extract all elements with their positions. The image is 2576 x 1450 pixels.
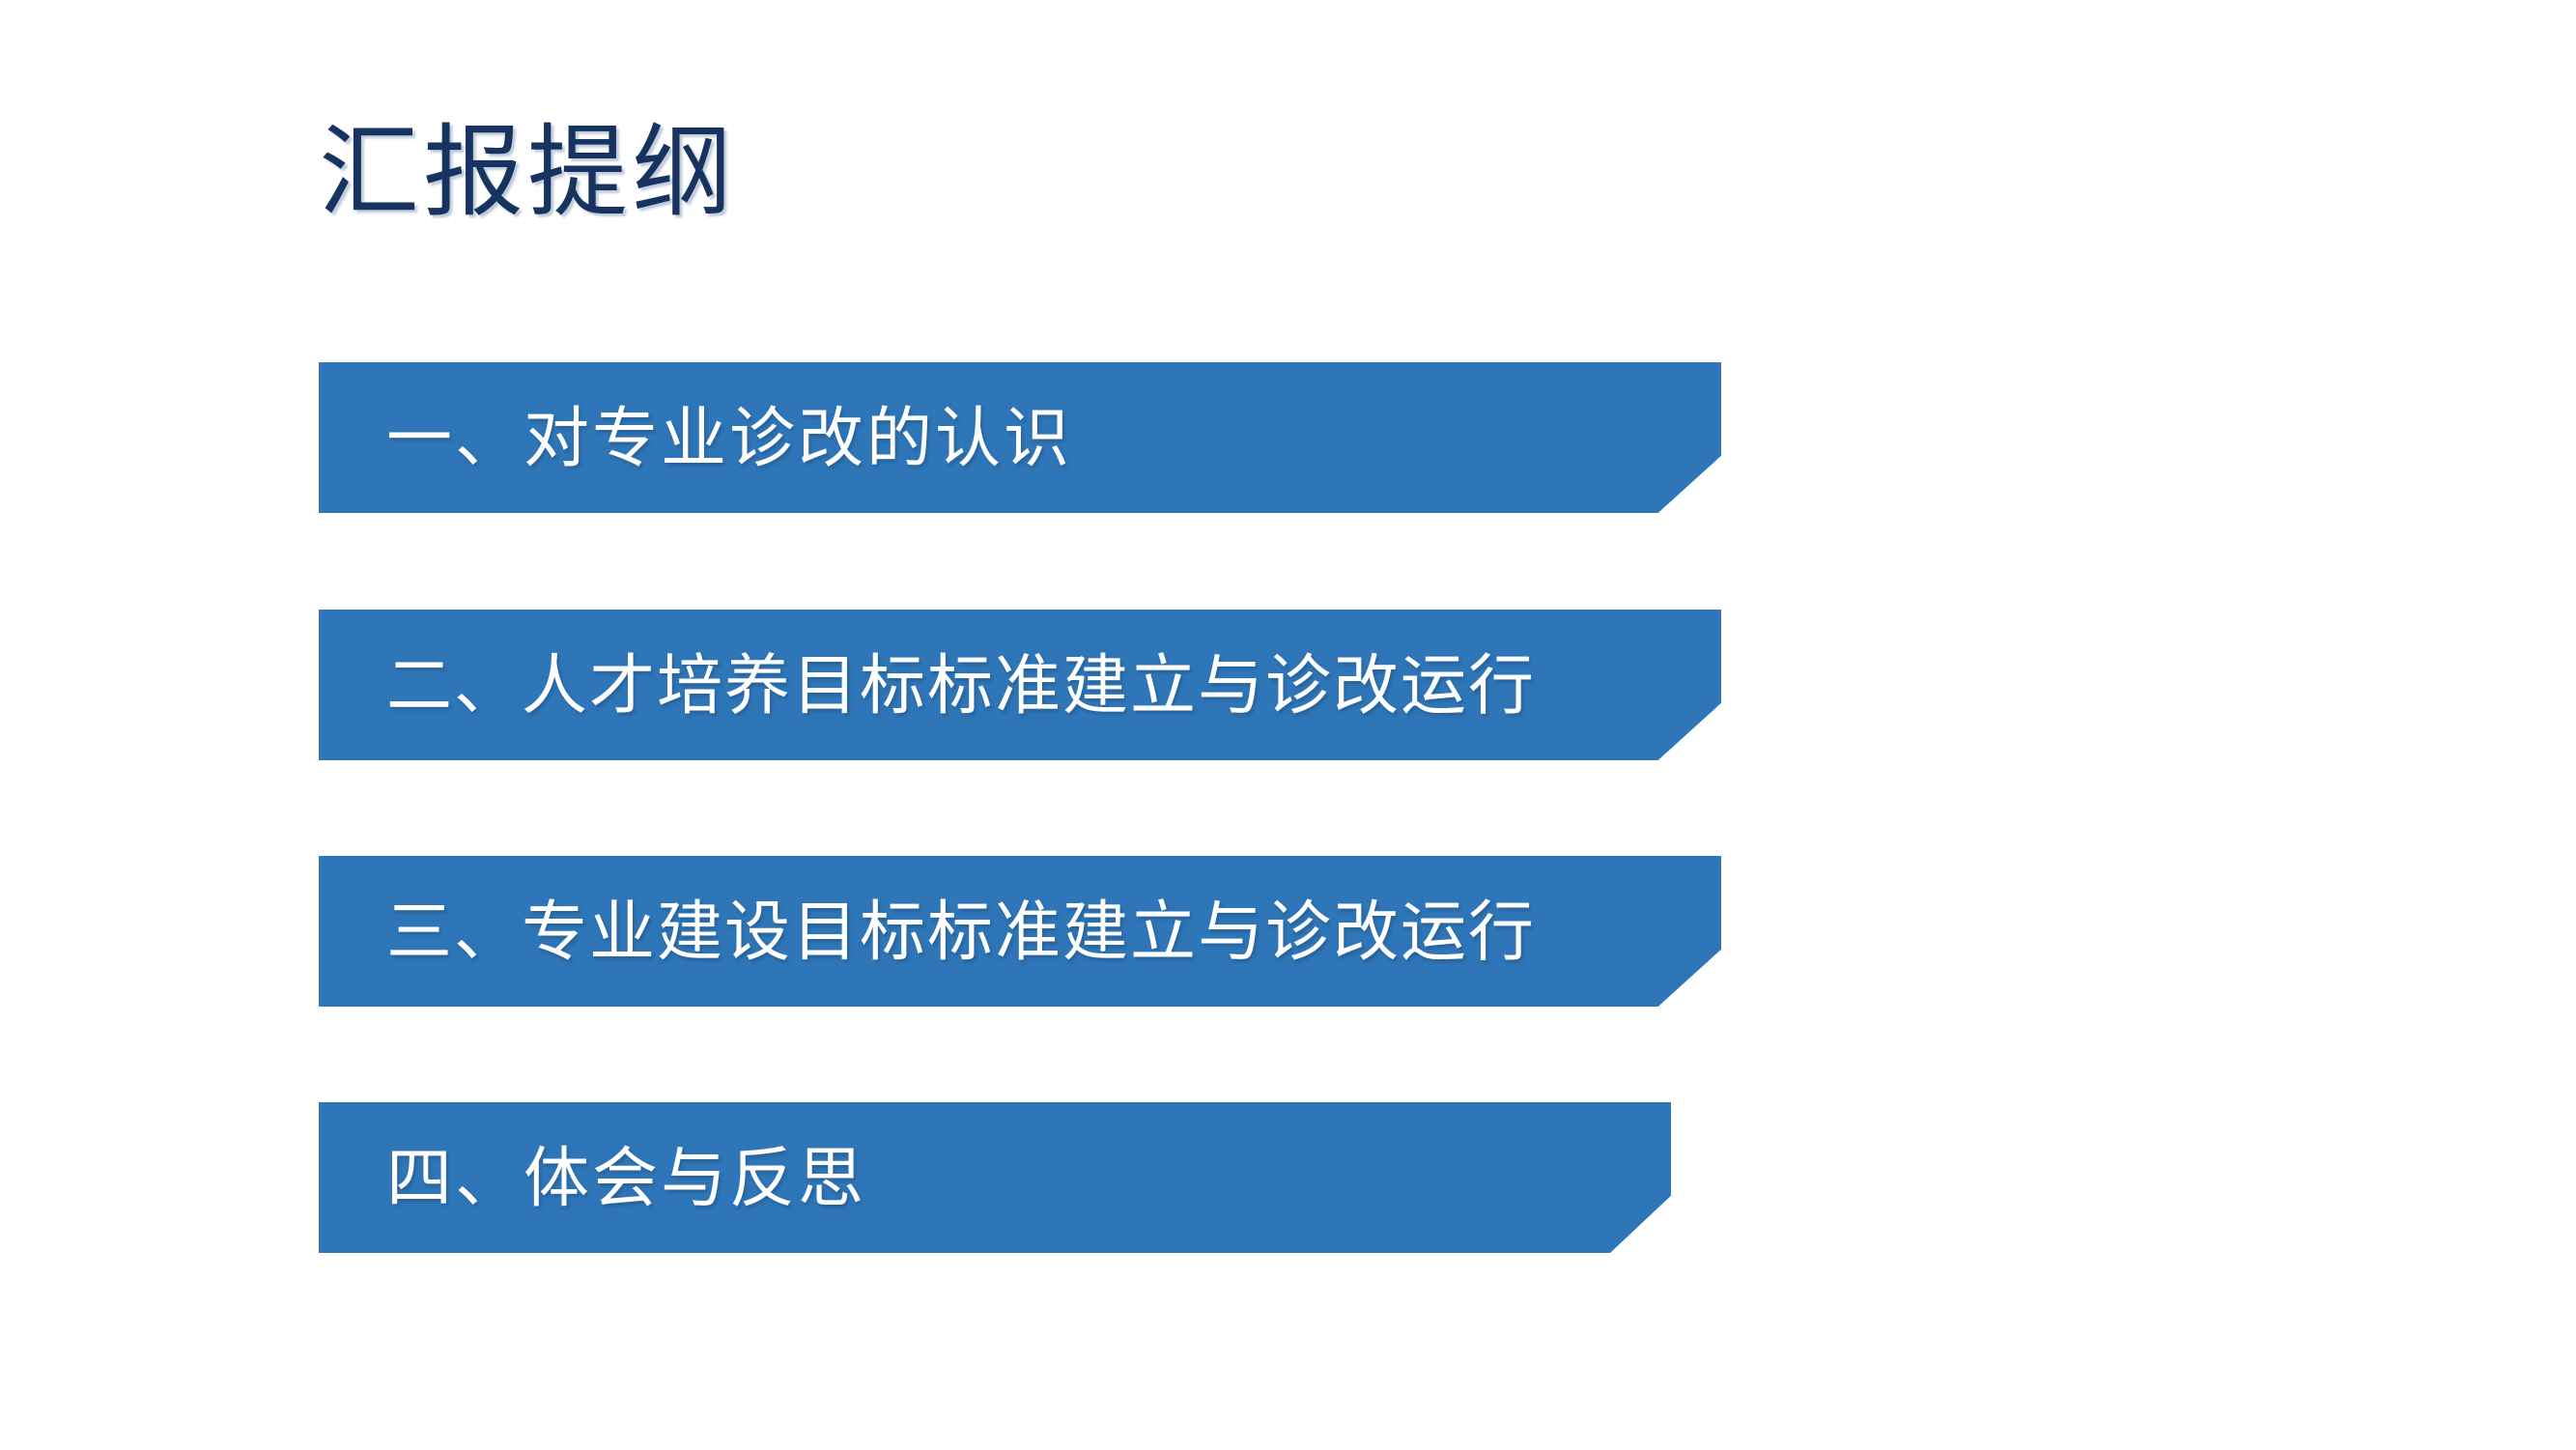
outline-banner-2[interactable]: 二、人才培养目标标准建立与诊改运行: [319, 610, 1721, 760]
slide-canvas: 汇报提纲 一、对专业诊改的认识 二、人才培养目标标准建立与诊改运行 三、专业建设…: [0, 0, 2576, 1450]
outline-banner-1[interactable]: 一、对专业诊改的认识: [319, 362, 1721, 513]
outline-banner-2-label: 二、人才培养目标标准建立与诊改运行: [386, 654, 1536, 720]
outline-banner-4[interactable]: 四、体会与反思: [319, 1102, 1671, 1253]
outline-banner-1-label: 一、对专业诊改的认识: [386, 407, 1072, 472]
outline-banner-list: 一、对专业诊改的认识 二、人才培养目标标准建立与诊改运行 三、专业建设目标标准建…: [0, 0, 2576, 1450]
outline-banner-3-label: 三、专业建设目标标准建立与诊改运行: [386, 900, 1536, 966]
outline-banner-4-label: 四、体会与反思: [386, 1147, 866, 1212]
outline-banner-3[interactable]: 三、专业建设目标标准建立与诊改运行: [319, 856, 1721, 1007]
